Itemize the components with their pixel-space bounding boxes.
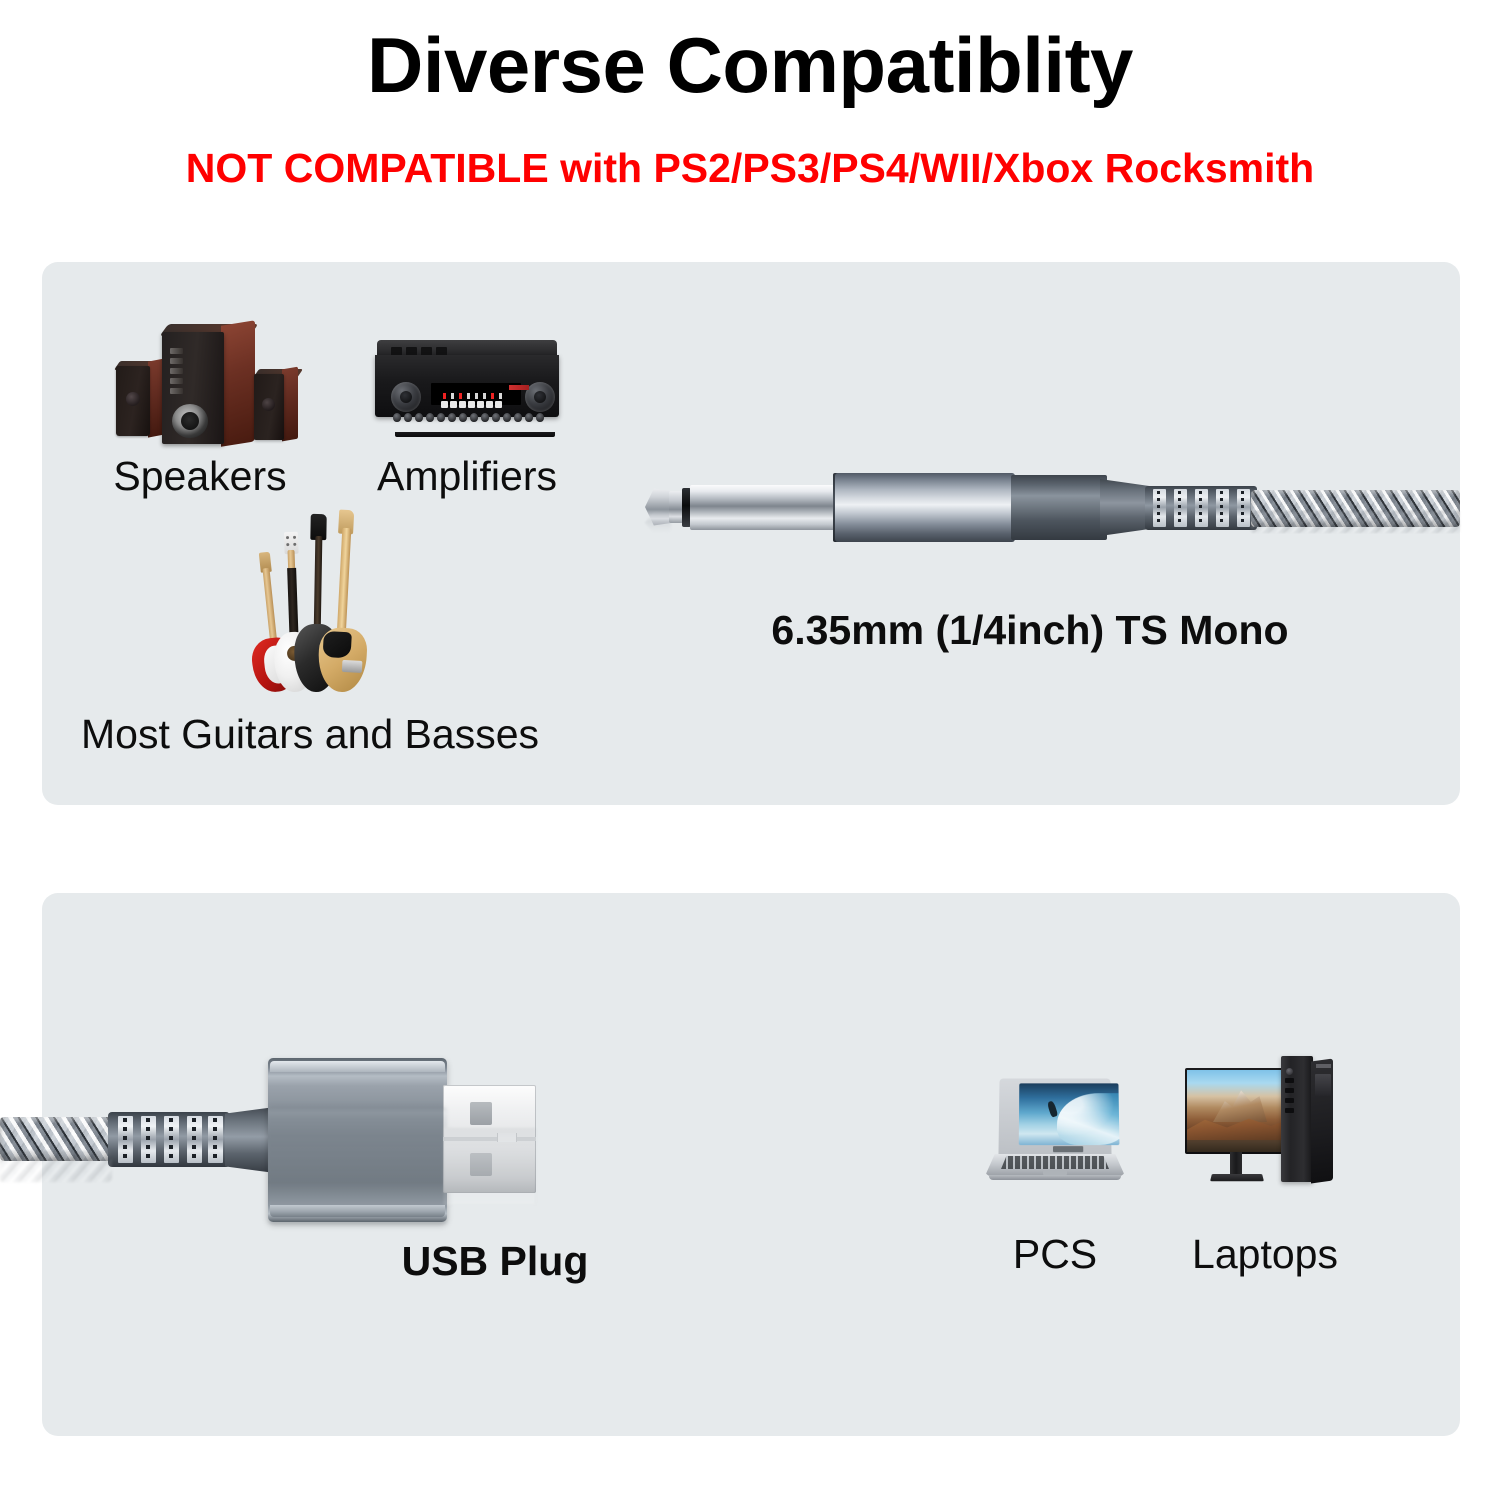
usb-housing-top-edge <box>270 1061 445 1072</box>
amplifier-knob-left <box>391 382 421 412</box>
plug-barrel <box>835 473 1015 542</box>
guitar-natural-telecaster <box>317 527 374 695</box>
speaker-satellite-right-side <box>282 367 298 442</box>
usb-housing <box>268 1058 447 1222</box>
pcs-label: PCS <box>975 1234 1135 1275</box>
plug-strain-relief <box>1145 486 1257 530</box>
usb-connector-notch <box>497 1133 517 1142</box>
amplifier-front-panel <box>375 355 559 417</box>
speakers-label: Speakers <box>100 456 300 497</box>
ts-mono-connector-label: 6.35mm (1/4inch) TS Mono <box>760 610 1300 651</box>
braided-cable <box>1251 490 1460 527</box>
subwoofer-port-hole <box>181 412 199 430</box>
compatibility-warning: NOT COMPATIBLE with PS2/PS3/PS4/WII/Xbox… <box>0 148 1500 189</box>
amplifier-icon <box>367 340 567 435</box>
amplifier-base <box>395 432 555 437</box>
pc-power-button <box>1286 1068 1293 1075</box>
usb-contact-slot-top <box>470 1102 492 1125</box>
plug-sleeve <box>690 485 837 530</box>
page-title: Diverse Compatiblity <box>0 26 1500 104</box>
guitars-label: Most Guitars and Basses <box>60 714 560 755</box>
subwoofer-controls <box>170 348 183 402</box>
amplifier-display <box>431 383 521 405</box>
amplifier-brand-logo <box>509 385 529 390</box>
laptop-front-edge <box>989 1175 1121 1180</box>
usb-plug-label: USB Plug <box>395 1241 595 1282</box>
laptops-label: Laptops <box>1165 1234 1365 1275</box>
laptop-screen <box>1019 1083 1120 1145</box>
usb-a-plug-icon <box>0 1055 830 1240</box>
speaker-satellite-right-cone <box>262 398 275 411</box>
pc-brand-logo <box>1316 1064 1331 1068</box>
monitor-stand-base <box>1210 1174 1264 1181</box>
guitars-icon <box>243 528 373 694</box>
pc-optical-drive <box>1315 1074 1331 1096</box>
ts-mono-plug-icon <box>645 455 1460 580</box>
usb-contact-slot-bottom <box>470 1153 492 1176</box>
desktop-pc-icon <box>1185 1056 1337 1190</box>
pc-front-ports <box>1285 1078 1299 1124</box>
amplifier-small-knob-row <box>393 409 549 419</box>
braided-cable <box>0 1117 112 1161</box>
amplifier-vents <box>391 343 455 352</box>
plug-tip <box>645 486 671 528</box>
monitor-wallpaper-peak <box>1213 1086 1267 1122</box>
laptop-wallpaper-wave <box>1057 1093 1119 1145</box>
amplifier-knob-right <box>525 382 555 412</box>
plug-collar <box>1011 475 1107 540</box>
amplifier-led-indicators <box>443 386 509 392</box>
laptop-keyboard <box>1001 1156 1109 1169</box>
usb-connector-divider <box>443 1137 536 1141</box>
usb-housing-bottom-edge <box>270 1205 445 1217</box>
amplifier-button-row <box>441 395 507 402</box>
speaker-satellite-left-cone <box>126 392 140 406</box>
laptop-icon <box>985 1078 1125 1190</box>
plug-tip-neck <box>669 491 683 523</box>
monitor-screen <box>1187 1070 1287 1152</box>
laptop-lid <box>998 1078 1111 1156</box>
speaker-system-icon <box>100 320 300 440</box>
laptop-brand-logo <box>1053 1146 1083 1152</box>
monitor-stand-neck <box>1230 1152 1242 1174</box>
usb-strain-relief <box>108 1112 230 1167</box>
amplifiers-label: Amplifiers <box>367 456 567 497</box>
laptop-wallpaper-surfer <box>1047 1100 1059 1117</box>
subwoofer-side-panel <box>221 320 255 446</box>
